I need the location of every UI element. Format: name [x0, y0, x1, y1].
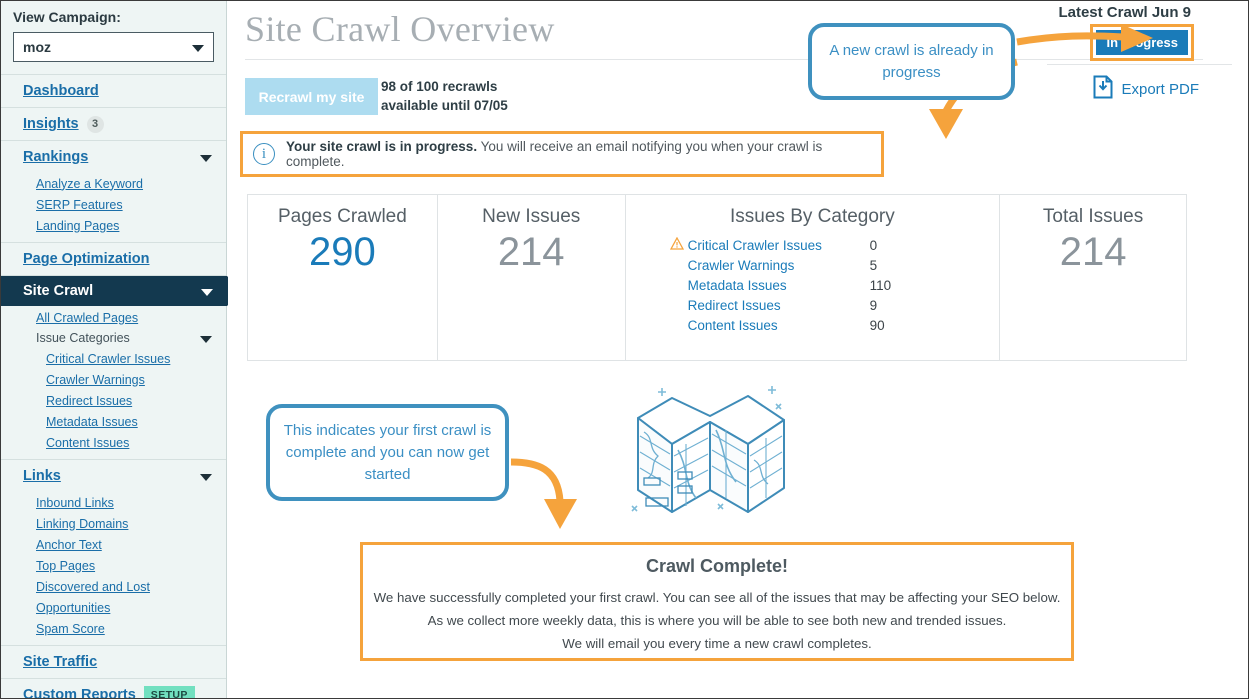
- sidebar-item-label: Insights: [23, 116, 79, 132]
- sidebar-item-label: Discovered and Lost: [36, 580, 150, 594]
- setup-badge[interactable]: SETUP: [144, 686, 195, 699]
- sidebar-item-label: Site Crawl: [23, 283, 93, 299]
- sidebar-item-label: Links: [23, 468, 61, 484]
- download-document-icon: [1093, 75, 1113, 104]
- sidebar-item-metadata-issues[interactable]: Metadata Issues: [1, 411, 226, 432]
- issue-category-row[interactable]: Crawler Warnings 5: [670, 255, 1000, 275]
- sidebar-item-analyze-a-keyword[interactable]: Analyze a Keyword: [1, 173, 226, 194]
- sidebar-group-site-traffic: Site Traffic: [1, 645, 226, 678]
- warning-triangle-icon: [670, 237, 686, 253]
- issue-category-value: 110: [870, 278, 892, 293]
- issue-category-name: Content Issues: [688, 318, 870, 333]
- title-divider: [245, 59, 1203, 60]
- export-pdf-label: Export PDF: [1121, 81, 1199, 98]
- crawl-complete-line3: We will email you every time a new crawl…: [363, 632, 1071, 655]
- issue-category-value: 5: [870, 258, 878, 273]
- card-new-issues: New Issues 214: [438, 195, 626, 360]
- overview-cards: Pages Crawled 290 New Issues 214 Issues …: [247, 194, 1187, 361]
- card-issues-by-category: Issues By Category Critical Crawler Issu…: [626, 195, 1001, 360]
- sidebar: View Campaign: moz Dashboard Insights 3 …: [1, 1, 227, 698]
- issue-category-value: 90: [870, 318, 885, 333]
- sidebar-item-dashboard[interactable]: Dashboard: [1, 75, 226, 107]
- sidebar-item-label: Dashboard: [23, 83, 99, 99]
- sidebar-group-page-optimization: Page Optimization: [1, 242, 226, 275]
- issue-category-row[interactable]: Critical Crawler Issues 0: [670, 235, 1000, 255]
- sidebar-group-site-crawl: Site Crawl All Crawled Pages Issue Categ…: [1, 275, 226, 459]
- issue-category-value: 0: [870, 238, 878, 253]
- sidebar-item-custom-reports[interactable]: Custom Reports SETUP: [1, 679, 226, 699]
- chevron-down-icon[interactable]: [200, 155, 212, 162]
- campaign-selector-block: View Campaign: moz: [1, 1, 226, 74]
- issue-category-name: Critical Crawler Issues: [688, 238, 870, 253]
- issue-category-row[interactable]: Content Issues 90: [670, 315, 1000, 335]
- export-pdf-button[interactable]: Export PDF: [1093, 75, 1199, 104]
- sidebar-item-rankings[interactable]: Rankings: [1, 141, 226, 173]
- sidebar-item-label: Top Pages: [36, 559, 95, 573]
- sidebar-item-opportunities[interactable]: Opportunities: [1, 597, 226, 618]
- recrawl-quota-text: 98 of 100 recrawls available until 07/05: [381, 77, 508, 115]
- crawl-in-progress-banner: i Your site crawl is in progress. You wi…: [240, 131, 884, 177]
- chevron-down-icon[interactable]: [201, 289, 213, 296]
- issue-category-row[interactable]: Metadata Issues 110: [670, 275, 1000, 295]
- sidebar-item-critical-crawler-issues[interactable]: Critical Crawler Issues: [1, 348, 226, 369]
- page-title: Site Crawl Overview: [245, 8, 555, 50]
- status-badge[interactable]: In Progress: [1096, 30, 1188, 55]
- banner-text: Your site crawl is in progress. You will…: [286, 139, 881, 169]
- sidebar-item-label: Critical Crawler Issues: [46, 352, 170, 366]
- sidebar-item-site-crawl[interactable]: Site Crawl: [1, 276, 227, 306]
- card-total-issues: Total Issues 214: [1000, 195, 1186, 360]
- banner-bold-text: Your site crawl is in progress.: [286, 139, 477, 154]
- sidebar-item-linking-domains[interactable]: Linking Domains: [1, 513, 226, 534]
- recrawl-my-site-button[interactable]: Recrawl my site: [245, 78, 378, 115]
- recrawl-quota-line2: available until 07/05: [381, 96, 508, 115]
- sidebar-item-label: Metadata Issues: [46, 415, 138, 429]
- arrowhead-down: [929, 109, 963, 139]
- sidebar-item-label: Content Issues: [46, 436, 129, 450]
- sidebar-group-rankings: Rankings Analyze a Keyword SERP Features…: [1, 140, 226, 242]
- issue-category-name: Metadata Issues: [688, 278, 870, 293]
- sidebar-item-label: Spam Score: [36, 622, 105, 636]
- card-value: 214: [1000, 228, 1186, 276]
- issues-category-list: Critical Crawler Issues 0 Crawler Warnin…: [626, 235, 1000, 335]
- card-value: 290: [248, 228, 437, 276]
- issue-category-name: Crawler Warnings: [688, 258, 870, 273]
- sidebar-item-label: Opportunities: [36, 601, 110, 615]
- issue-category-value: 9: [870, 298, 878, 313]
- campaign-value: moz: [23, 39, 51, 55]
- chevron-down-icon[interactable]: [200, 336, 212, 343]
- card-title: New Issues: [438, 206, 625, 228]
- sidebar-item-label: Redirect Issues: [46, 394, 132, 408]
- sidebar-item-label: Inbound Links: [36, 496, 114, 510]
- card-value: 214: [438, 228, 625, 276]
- sidebar-item-all-crawled-pages[interactable]: All Crawled Pages: [1, 306, 226, 327]
- latest-crawl-label: Latest Crawl Jun 9: [1058, 4, 1191, 21]
- sidebar-item-label: Landing Pages: [36, 219, 119, 233]
- status-badge-highlight: In Progress: [1090, 24, 1194, 61]
- sidebar-item-crawler-warnings[interactable]: Crawler Warnings: [1, 369, 226, 390]
- recrawl-quota-line1: 98 of 100 recrawls: [381, 77, 508, 96]
- sidebar-item-label: Issue Categories: [36, 331, 130, 345]
- sidebar-item-label: Linking Domains: [36, 517, 128, 531]
- insights-count-badge: 3: [87, 116, 104, 133]
- main-content: Site Crawl Overview Recrawl my site 98 o…: [228, 1, 1249, 698]
- crawl-complete-box: Crawl Complete! We have successfully com…: [360, 542, 1074, 661]
- sidebar-item-label: Custom Reports: [23, 687, 136, 699]
- sidebar-item-landing-pages[interactable]: Landing Pages: [1, 215, 226, 236]
- sidebar-group-dashboard: Dashboard: [1, 74, 226, 107]
- sidebar-item-label: Analyze a Keyword: [36, 177, 143, 191]
- sidebar-item-spam-score[interactable]: Spam Score: [1, 618, 226, 639]
- campaign-dropdown[interactable]: moz: [13, 32, 214, 62]
- sidebar-item-serp-features[interactable]: SERP Features: [1, 194, 226, 215]
- sidebar-item-label: All Crawled Pages: [36, 311, 138, 325]
- sidebar-group-custom-reports: Custom Reports SETUP: [1, 678, 226, 699]
- sidebar-item-discovered-and-lost[interactable]: Discovered and Lost: [1, 576, 226, 597]
- crawl-complete-line2: As we collect more weekly data, this is …: [363, 609, 1071, 632]
- annotation-bubble-first-crawl-complete: This indicates your first crawl is compl…: [266, 404, 509, 501]
- folded-map-icon: [626, 386, 796, 531]
- sidebar-item-inbound-links[interactable]: Inbound Links: [1, 492, 226, 513]
- sidebar-item-label: Rankings: [23, 149, 88, 165]
- sidebar-item-top-pages[interactable]: Top Pages: [1, 555, 226, 576]
- chevron-down-icon: [192, 45, 204, 52]
- card-title: Total Issues: [1000, 206, 1186, 228]
- app-window: View Campaign: moz Dashboard Insights 3 …: [0, 0, 1249, 699]
- annotation-bubble-crawl-in-progress: A new crawl is already in progress: [808, 23, 1015, 100]
- sidebar-item-issue-categories[interactable]: Issue Categories: [1, 327, 226, 348]
- sidebar-item-anchor-text[interactable]: Anchor Text: [1, 534, 226, 555]
- sidebar-item-redirect-issues[interactable]: Redirect Issues: [1, 390, 226, 411]
- info-icon: i: [253, 143, 275, 165]
- issue-category-name: Redirect Issues: [688, 298, 870, 313]
- issue-category-row[interactable]: Redirect Issues 9: [670, 295, 1000, 315]
- sidebar-item-page-optimization[interactable]: Page Optimization: [1, 243, 226, 275]
- sidebar-item-links[interactable]: Links: [1, 460, 226, 492]
- sidebar-group-links: Links Inbound Links Linking Domains Anch…: [1, 459, 226, 645]
- campaign-label: View Campaign:: [13, 9, 214, 25]
- arrowhead-down: [544, 499, 577, 529]
- sidebar-item-label: Page Optimization: [23, 251, 150, 267]
- sidebar-group-insights: Insights 3: [1, 107, 226, 140]
- card-pages-crawled: Pages Crawled 290: [248, 195, 438, 360]
- sidebar-item-insights[interactable]: Insights 3: [1, 108, 226, 140]
- card-title: Pages Crawled: [248, 206, 437, 228]
- chevron-down-icon[interactable]: [200, 474, 212, 481]
- sidebar-item-label: SERP Features: [36, 198, 123, 212]
- sidebar-item-site-traffic[interactable]: Site Traffic: [1, 646, 226, 678]
- crawl-complete-line1: We have successfully completed your firs…: [363, 586, 1071, 609]
- sidebar-item-label: Site Traffic: [23, 654, 97, 670]
- sidebar-item-content-issues[interactable]: Content Issues: [1, 432, 226, 453]
- header-divider: [1047, 64, 1232, 65]
- card-title: Issues By Category: [626, 206, 1000, 228]
- sidebar-item-label: Anchor Text: [36, 538, 102, 552]
- sidebar-item-label: Crawler Warnings: [46, 373, 145, 387]
- crawl-complete-title: Crawl Complete!: [363, 556, 1071, 577]
